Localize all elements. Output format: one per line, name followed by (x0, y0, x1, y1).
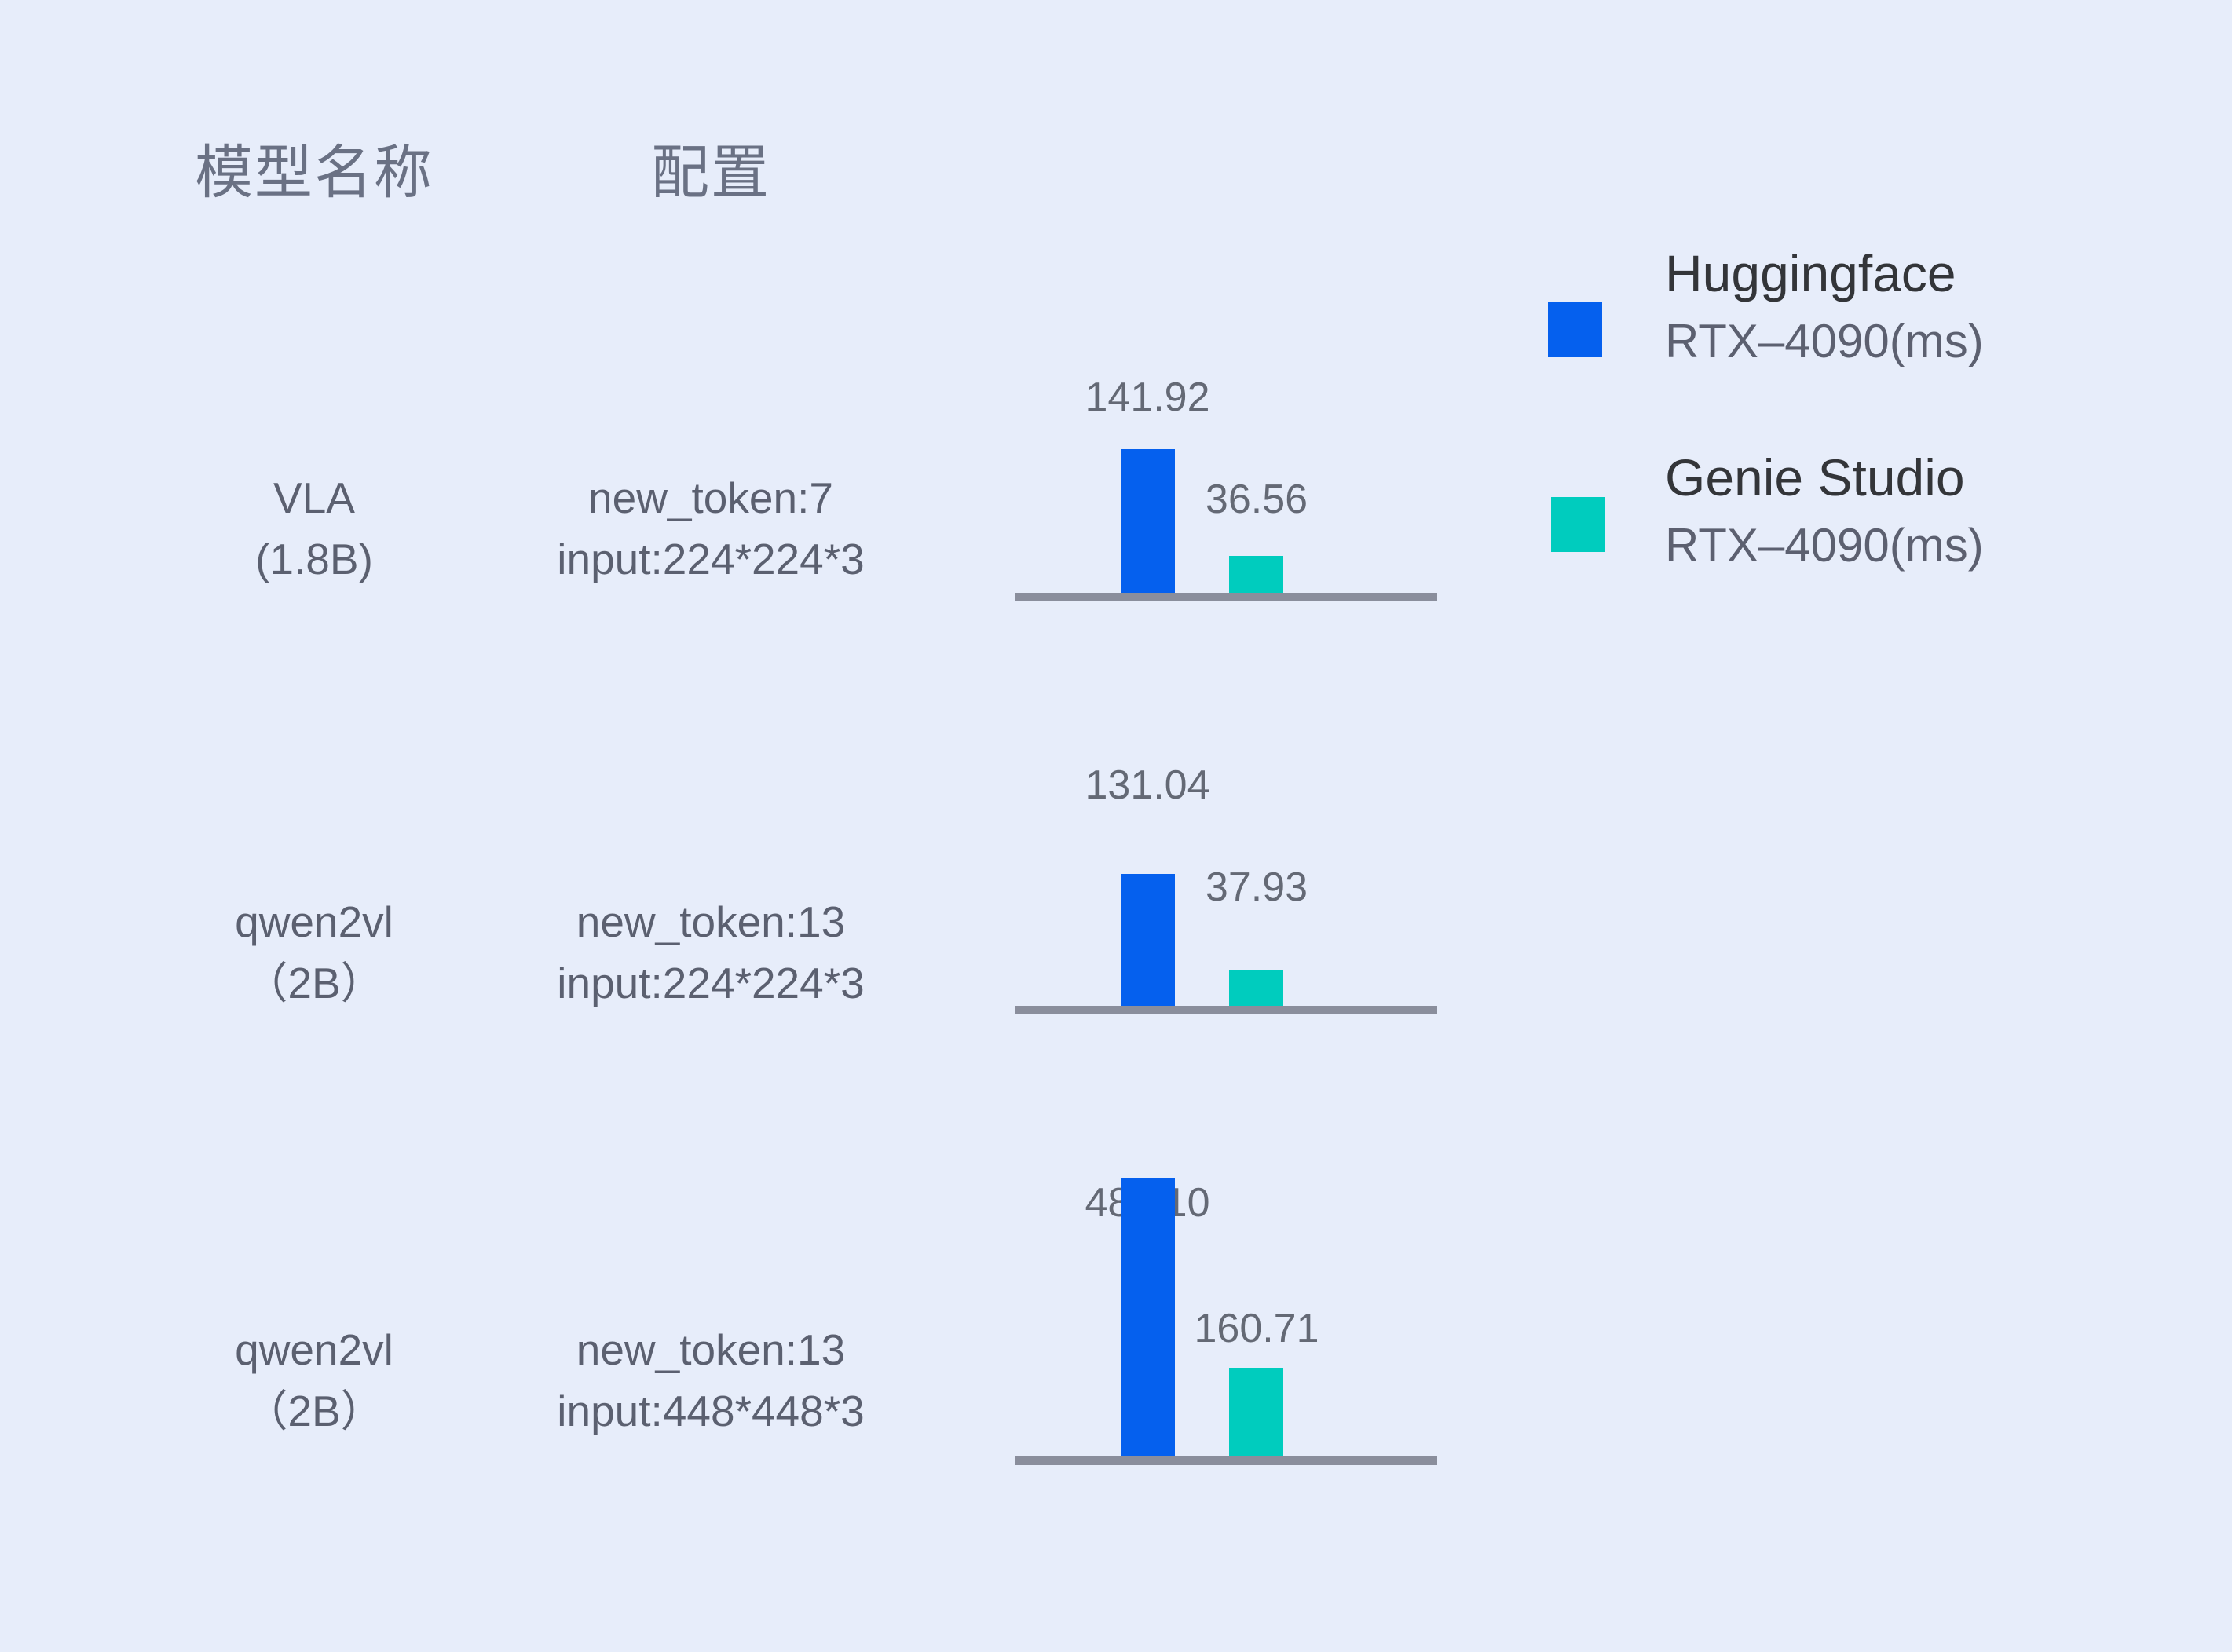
row-config-label: new_token:7 input:224*224*3 (557, 467, 864, 590)
table-row: qwen2vl （2B） new_token:13 input:224*224*… (0, 762, 2232, 1186)
config-token-line1: new_token:7 (588, 473, 833, 522)
legend-item-huggingface[interactable]: Huggingface RTX–4090(ms) (1539, 243, 2105, 448)
bar-group: 488.10 160.71 (1015, 1186, 1437, 1468)
config-token-line1: new_token:13 (576, 897, 846, 946)
model-size-line2: （2B） (235, 952, 393, 1014)
bar-value-genie-studio: 160.71 (1194, 1305, 1319, 1352)
row-model-label: qwen2vl （2B） (235, 1319, 393, 1442)
table-row: qwen2vl （2B） new_token:13 input:448*448*… (0, 1186, 2232, 1625)
legend-title: Genie Studio (1665, 448, 1965, 507)
bar-genie-studio (1229, 970, 1283, 1006)
bar-value-huggingface: 131.04 (1085, 762, 1209, 809)
config-input-line2: input:224*224*3 (557, 952, 864, 1014)
row-baseline (1015, 1006, 1437, 1014)
row-model-label: VLA (1.8B) (255, 467, 373, 590)
config-input-line2: input:448*448*3 (557, 1380, 864, 1442)
chart-legend: Huggingface RTX–4090(ms) Genie Studio RT… (1539, 243, 2105, 652)
column-header-model-name: 模型名称 (195, 126, 434, 210)
config-input-line2: input:224*224*3 (557, 528, 864, 590)
bar-group: 141.92 36.56 (1015, 338, 1437, 605)
column-header-config: 配置 (651, 126, 770, 210)
row-config-label: new_token:13 input:224*224*3 (557, 891, 864, 1014)
model-name-line1: VLA (273, 473, 355, 522)
legend-subtitle: RTX–4090(ms) (1665, 314, 1984, 368)
config-token-line1: new_token:13 (576, 1325, 846, 1374)
legend-subtitle: RTX–4090(ms) (1665, 518, 1984, 572)
model-size-line2: (1.8B) (255, 528, 373, 590)
bar-value-genie-studio: 36.56 (1206, 476, 1308, 523)
model-name-line1: qwen2vl (235, 897, 393, 946)
row-config-label: new_token:13 input:448*448*3 (557, 1319, 864, 1442)
teal-swatch-icon (1551, 497, 1605, 552)
bar-group: 131.04 37.93 (1015, 762, 1437, 1013)
bar-huggingface (1121, 449, 1175, 593)
model-name-line1: qwen2vl (235, 1325, 393, 1374)
row-model-label: qwen2vl （2B） (235, 891, 393, 1014)
bar-genie-studio (1229, 1368, 1283, 1456)
bar-value-genie-studio: 37.93 (1206, 864, 1308, 911)
bar-genie-studio (1229, 556, 1283, 593)
comparison-chart-page: 模型名称 配置 VLA (1.8B) new_token:7 input:224… (0, 0, 2232, 1652)
bar-value-huggingface: 141.92 (1085, 374, 1209, 421)
model-size-line2: （2B） (235, 1380, 393, 1442)
blue-swatch-icon (1548, 302, 1602, 357)
bar-huggingface (1121, 874, 1175, 1006)
row-baseline (1015, 593, 1437, 601)
row-baseline (1015, 1456, 1437, 1465)
bar-huggingface (1121, 1178, 1175, 1463)
legend-item-genie-studio[interactable]: Genie Studio RTX–4090(ms) (1539, 448, 2105, 652)
legend-title: Huggingface (1665, 243, 1956, 303)
